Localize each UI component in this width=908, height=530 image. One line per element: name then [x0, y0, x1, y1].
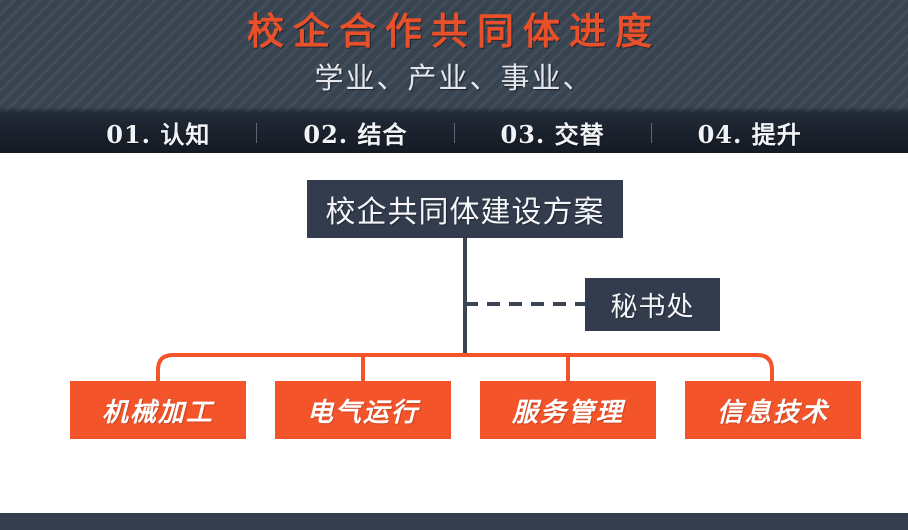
page-subtitle: 学业、产业、事业、 — [0, 60, 908, 98]
slide-footer — [0, 513, 908, 530]
nav-step-2[interactable]: 02. 结合 — [299, 115, 411, 150]
slide: 校企合作共同体进度 学业、产业、事业、 01. 认知 02. 结合 03. 交替… — [0, 0, 908, 530]
node-leaf-service-management[interactable]: 服务管理 — [480, 381, 656, 439]
nav-step-3[interactable]: 03. 交替 — [497, 115, 609, 150]
org-chart: 校企共同体建设方案 秘书处 机械加工 电气运行 服务管理 信息技术 — [0, 153, 908, 513]
nav-separator — [454, 123, 455, 143]
node-leaf-electrical-operation[interactable]: 电气运行 — [275, 381, 451, 439]
step-navbar: 01. 认知 02. 结合 03. 交替 04. 提升 — [0, 112, 908, 153]
nav-step-1[interactable]: 01. 认知 — [102, 115, 214, 150]
page-title: 校企合作共同体进度 — [0, 8, 908, 54]
node-leaf-mechanical-processing[interactable]: 机械加工 — [70, 381, 246, 439]
leaf-rail-path — [158, 355, 772, 381]
slide-header: 校企合作共同体进度 学业、产业、事业、 — [0, 0, 908, 112]
nav-separator — [256, 123, 257, 143]
nav-separator — [651, 123, 652, 143]
node-leaf-information-technology[interactable]: 信息技术 — [685, 381, 861, 439]
node-root[interactable]: 校企共同体建设方案 — [307, 180, 623, 238]
nav-step-4[interactable]: 04. 提升 — [694, 115, 806, 150]
node-secretariat[interactable]: 秘书处 — [585, 278, 720, 331]
